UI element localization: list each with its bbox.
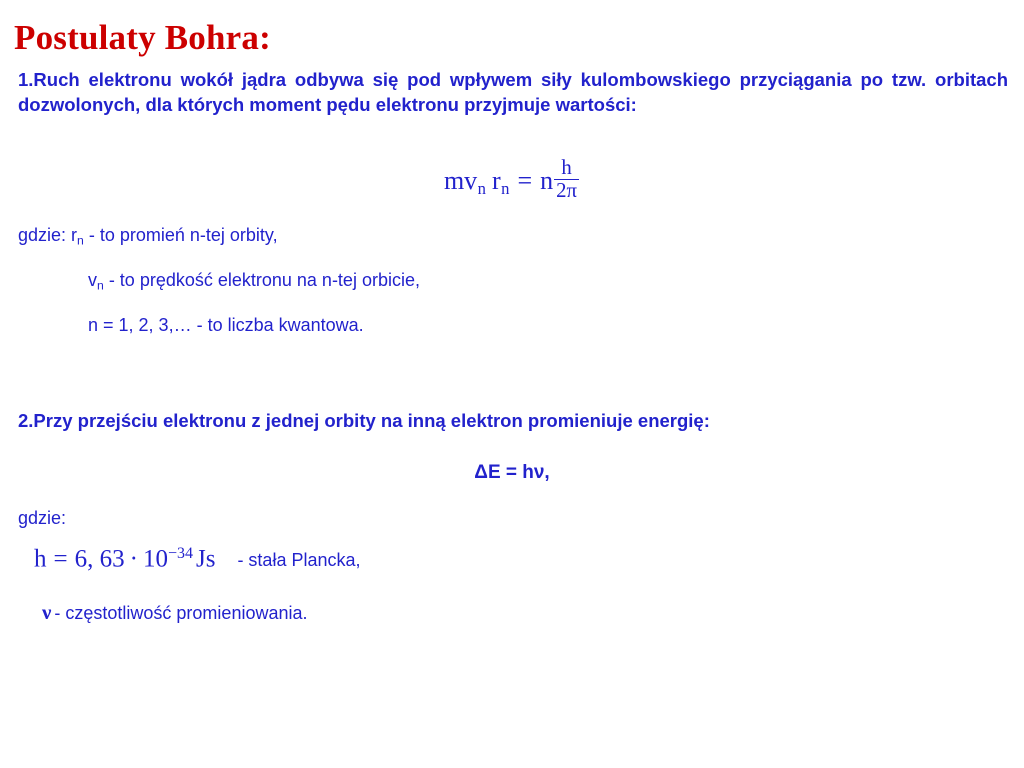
legend-symbol-v: v (88, 270, 97, 290)
formula-fraction-numerator: h (554, 157, 579, 180)
formula-equals: = (517, 166, 532, 195)
planck-label: - stała Plancka, (237, 550, 360, 571)
formula-m: m (444, 166, 464, 195)
postulate-1-text: 1.Ruch elektronu wokół jądra odbywa się … (18, 68, 1008, 117)
postulate-2-formula: ΔE = hν, (0, 462, 1024, 484)
legend-symbol-r-subscript: n (77, 234, 84, 248)
postulate-2-text: 2.Przy przejściu elektronu z jednej orbi… (18, 410, 1008, 432)
legend-item-r: gdzie: rn - to promień n-tej orbity, (18, 225, 278, 248)
page-title: Postulaty Bohra: (14, 18, 271, 58)
legend-desc-v: - to prędkość elektronu na n-tej orbicie… (104, 270, 420, 290)
legend-item-n: n = 1, 2, 3,… - to liczba kwantowa. (88, 315, 364, 336)
frequency-row: ν - częstotliwość promieniowania. (42, 600, 308, 625)
formula-expression: mvnrn=nh2π (444, 166, 580, 195)
formula-v: v (464, 166, 477, 195)
formula-v-subscript: n (478, 179, 486, 198)
nu-label: - częstotliwość promieniowania. (54, 603, 307, 624)
nu-symbol: ν (42, 600, 51, 625)
planck-unit: Js (196, 545, 215, 572)
legend-desc-n: = 1, 2, 3,… - to liczba kwantowa. (98, 315, 364, 335)
slide-canvas: Postulaty Bohra: 1.Ruch elektronu wokół … (0, 0, 1024, 768)
planck-h: h (34, 545, 47, 572)
formula-r: r (492, 166, 501, 195)
planck-equals: = (54, 545, 68, 572)
planck-constant-row: h=6, 63·10−34Js - stała Plancka, (34, 545, 361, 573)
postulate-1-formula: mvnrn=nh2π (0, 157, 1024, 203)
formula-fraction: h2π (554, 157, 579, 203)
formula-fraction-denominator: 2π (554, 180, 579, 202)
planck-value: 6, 63 (75, 545, 125, 572)
legend-desc-r: - to promień n-tej orbity, (84, 225, 278, 245)
gdzie-label: gdzie: (18, 508, 66, 529)
planck-multiply-dot: · (130, 545, 138, 572)
planck-exponent: −34 (168, 545, 193, 562)
legend-prefix: gdzie: (18, 225, 71, 245)
planck-formula: h=6, 63·10−34Js (34, 545, 215, 573)
planck-base: 10 (143, 545, 168, 572)
legend-item-v: vn - to prędkość elektronu na n-tej orbi… (88, 270, 420, 293)
legend-symbol-v-subscript: n (97, 279, 104, 293)
legend-symbol-n: n (88, 315, 98, 335)
formula-r-subscript: n (501, 179, 509, 198)
formula-n: n (540, 166, 553, 195)
